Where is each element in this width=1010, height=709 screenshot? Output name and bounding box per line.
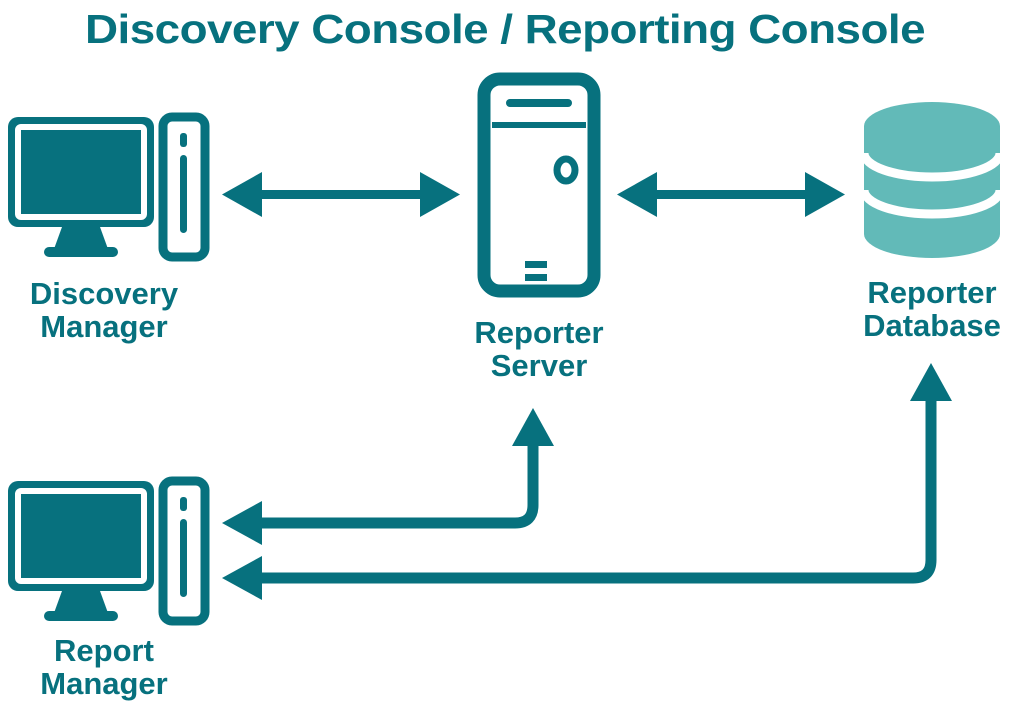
node-reporter-database[interactable]: Reporter Database (863, 102, 1001, 343)
tower-drive-slot (180, 497, 187, 511)
server-indicator-dash-1 (525, 261, 547, 268)
node-reporter-server[interactable]: Reporter Server (474, 79, 603, 383)
diagram-title: Discovery Console / Reporting Console (85, 6, 925, 52)
connector-shaft (645, 190, 808, 199)
arrowhead-right-icon (805, 172, 845, 217)
connector-elbow-path (255, 428, 533, 523)
arrowhead-up-icon (910, 363, 952, 401)
arrowhead-left-icon (222, 172, 262, 217)
server-chassis (484, 79, 594, 291)
node-label-line2: Server (491, 348, 588, 383)
connector-reporter-server-to-reporter-database (617, 172, 845, 217)
tower-panel-line (180, 519, 187, 597)
node-label-line1: Report (54, 633, 154, 668)
connector-discovery-manager-to-reporter-server (222, 172, 460, 217)
server-indicator-dash-2 (525, 274, 547, 281)
monitor-body (8, 117, 154, 227)
connector-shaft (250, 190, 430, 199)
monitor-stand-neck (54, 227, 108, 249)
workstation-icon (8, 481, 205, 621)
database-cylinder-icon (864, 102, 1000, 258)
tower-panel-line (180, 155, 187, 233)
node-label-line1: Reporter (867, 275, 996, 310)
node-discovery-manager[interactable]: Discovery Manager (8, 117, 205, 344)
server-optical-drive (506, 99, 572, 107)
connector-reporter-database-to-report-manager (222, 363, 952, 600)
monitor-stand-base (44, 247, 118, 257)
tower-drive-slot (180, 133, 187, 147)
server-tower-icon (484, 79, 594, 291)
arrowhead-up-icon (512, 408, 554, 446)
architecture-diagram: Discovery Console / Reporting Console Di… (0, 0, 1010, 709)
arrowhead-left-icon (222, 501, 262, 545)
connector-reporter-server-to-report-manager (222, 408, 554, 545)
diagram-canvas: Discovery Console / Reporting Console Di… (0, 0, 1010, 709)
node-label-line1: Discovery (30, 276, 179, 311)
database-top-disk (864, 102, 1000, 150)
arrowhead-right-icon (420, 172, 460, 217)
node-label-line1: Reporter (474, 315, 603, 350)
arrowhead-left-icon (222, 556, 262, 600)
monitor-body (8, 481, 154, 591)
arrowhead-left-icon (617, 172, 657, 217)
node-report-manager[interactable]: Report Manager (8, 481, 205, 701)
node-label-line2: Manager (40, 309, 167, 344)
workstation-icon (8, 117, 205, 257)
node-label-line2: Database (863, 308, 1001, 343)
node-label-line2: Manager (40, 666, 167, 701)
monitor-stand-neck (54, 591, 108, 613)
monitor-stand-base (44, 611, 118, 621)
connector-elbow-path (255, 383, 931, 578)
server-power-button-icon (557, 159, 575, 181)
